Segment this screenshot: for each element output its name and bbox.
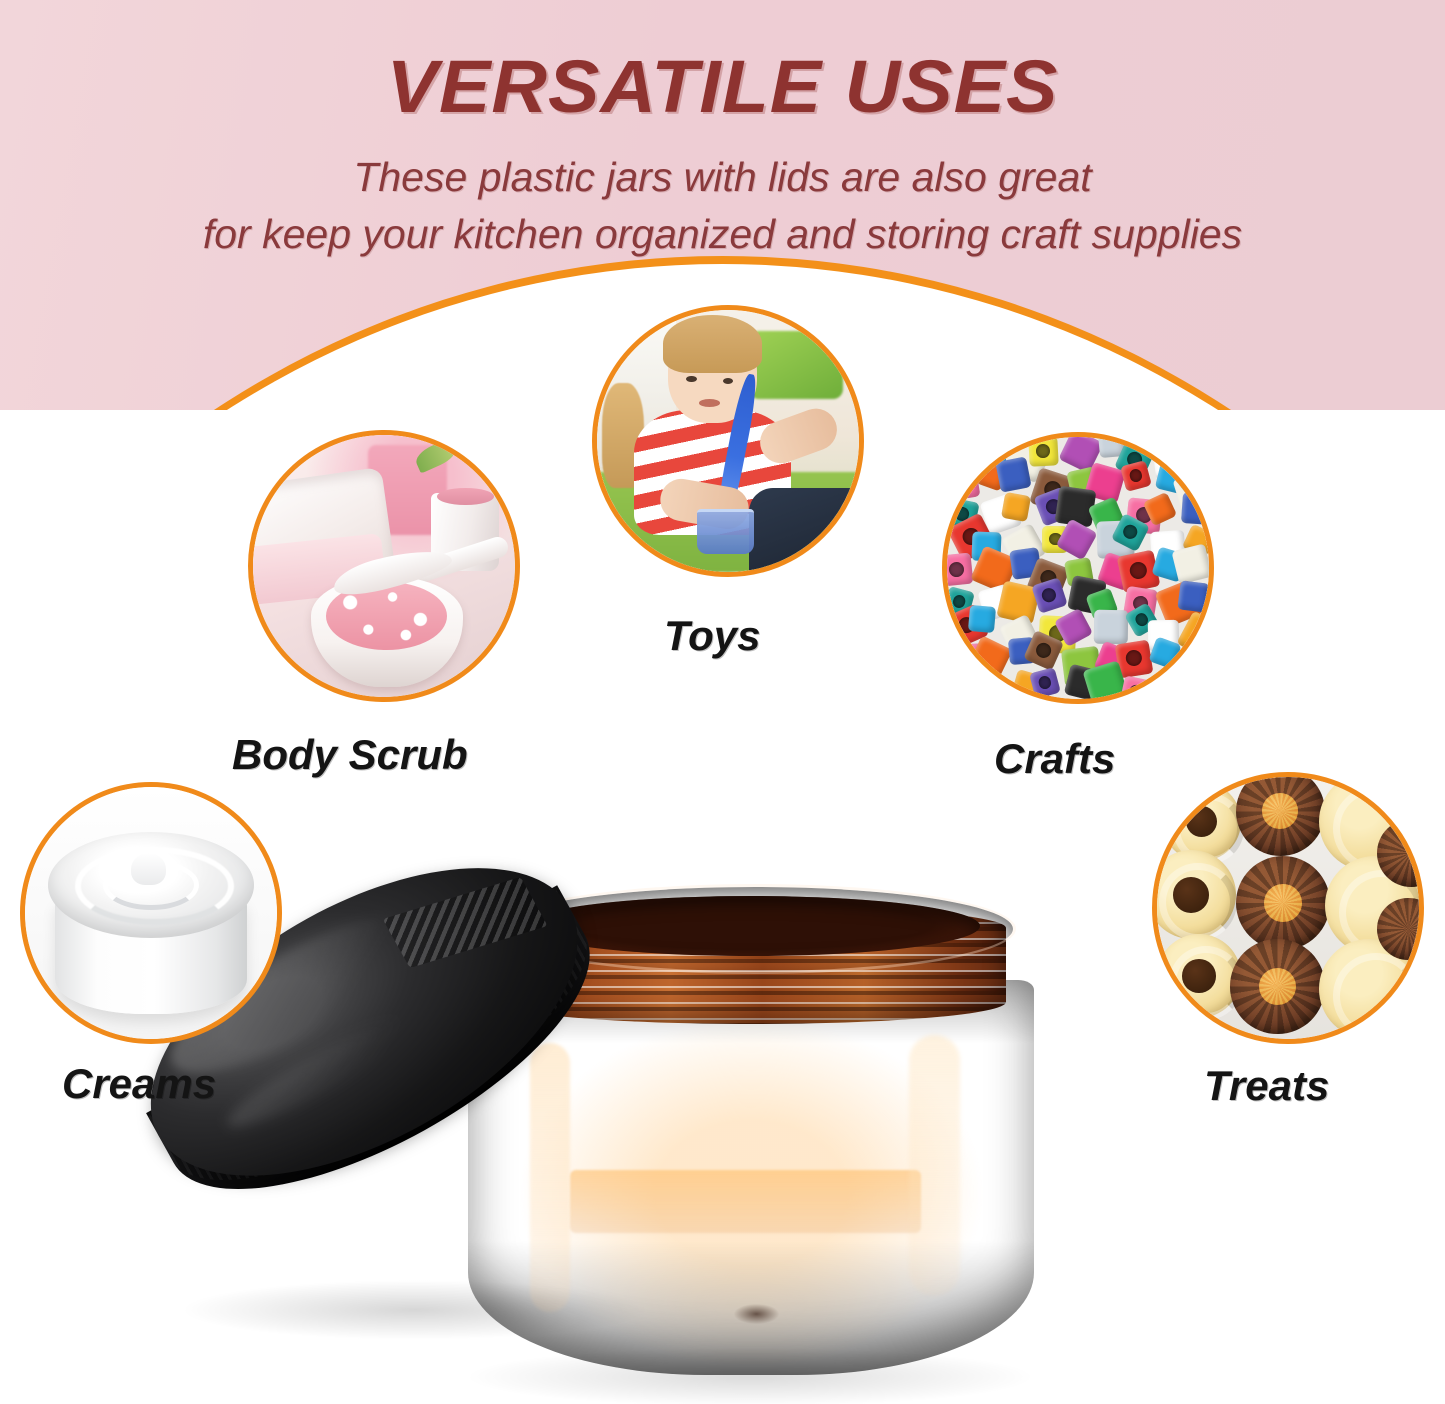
- craft-bead: [947, 462, 981, 501]
- craft-bead: [1029, 667, 1061, 699]
- craft-bead: [1056, 518, 1099, 561]
- toys-mouth: [699, 399, 720, 407]
- use-case-image-toys: [592, 305, 864, 577]
- body-scrub-photo: [253, 435, 515, 697]
- craft-bead: [947, 437, 971, 461]
- treat-piped-petals: [1236, 777, 1325, 856]
- toys-green-cushion: [749, 331, 843, 399]
- treat-cookie: [1157, 934, 1241, 1018]
- treats-photo: [1157, 777, 1419, 1039]
- use-case-label-crafts: Crafts: [994, 735, 1115, 783]
- use-case-image-body-scrub: [248, 430, 520, 702]
- jar-light-band: [570, 1170, 921, 1233]
- treat-cookie: [1236, 856, 1330, 950]
- treat-piped-petals: [1230, 939, 1324, 1033]
- treat-piped-petals: [1236, 856, 1330, 950]
- treat-piped-swirl: [1159, 863, 1237, 941]
- jar-base-dimple: [734, 1304, 779, 1324]
- craft-bead: [968, 605, 996, 633]
- use-case-image-treats: [1152, 772, 1424, 1044]
- craft-bead: [1093, 610, 1128, 645]
- page-subtitle: These plastic jars with lids are also gr…: [0, 129, 1445, 262]
- use-case-label-creams: Creams: [62, 1060, 216, 1108]
- toys-pants: [749, 488, 859, 572]
- toys-child-hair: [663, 315, 763, 373]
- use-case-image-creams: [20, 782, 282, 1044]
- jar-highlight-right: [909, 1035, 960, 1296]
- craft-bead: [1177, 581, 1209, 613]
- crafts-photo: [947, 437, 1209, 699]
- craft-bead: [1119, 675, 1153, 699]
- treat-cookie: [1230, 939, 1324, 1033]
- use-case-label-treats: Treats: [1204, 1062, 1329, 1110]
- use-case-label-body-scrub: Body Scrub: [232, 731, 468, 779]
- craft-bead: [1185, 634, 1209, 671]
- toys-photo: [597, 310, 859, 572]
- treat-cookie: [1162, 782, 1241, 861]
- subtitle-line-1: These plastic jars with lids are also gr…: [0, 129, 1445, 206]
- craft-bead: [1181, 492, 1209, 526]
- toys-eye-left: [686, 376, 696, 382]
- versatile-uses-infographic: VERSATILE USES These plastic jars with l…: [0, 0, 1445, 1404]
- page-title: VERSATILE USES: [0, 0, 1445, 129]
- craft-bead: [947, 553, 974, 588]
- creams-photo: [25, 787, 277, 1039]
- use-case-image-crafts: [942, 432, 1214, 704]
- craft-bead: [1029, 437, 1059, 467]
- craft-bead: [1174, 670, 1204, 699]
- craft-bead: [975, 673, 1010, 699]
- header-text-block: VERSATILE USES These plastic jars with l…: [0, 0, 1445, 262]
- cream-peak: [131, 853, 166, 886]
- use-case-label-toys: Toys: [664, 612, 760, 660]
- craft-bead: [1001, 492, 1031, 522]
- subtitle-line-2: for keep your kitchen organized and stor…: [0, 206, 1445, 263]
- toys-slime-tub: [697, 509, 755, 554]
- treat-cookie: [1236, 777, 1325, 856]
- treat-piped-swirl: [1333, 953, 1419, 1039]
- treat-cookie: [1157, 850, 1236, 939]
